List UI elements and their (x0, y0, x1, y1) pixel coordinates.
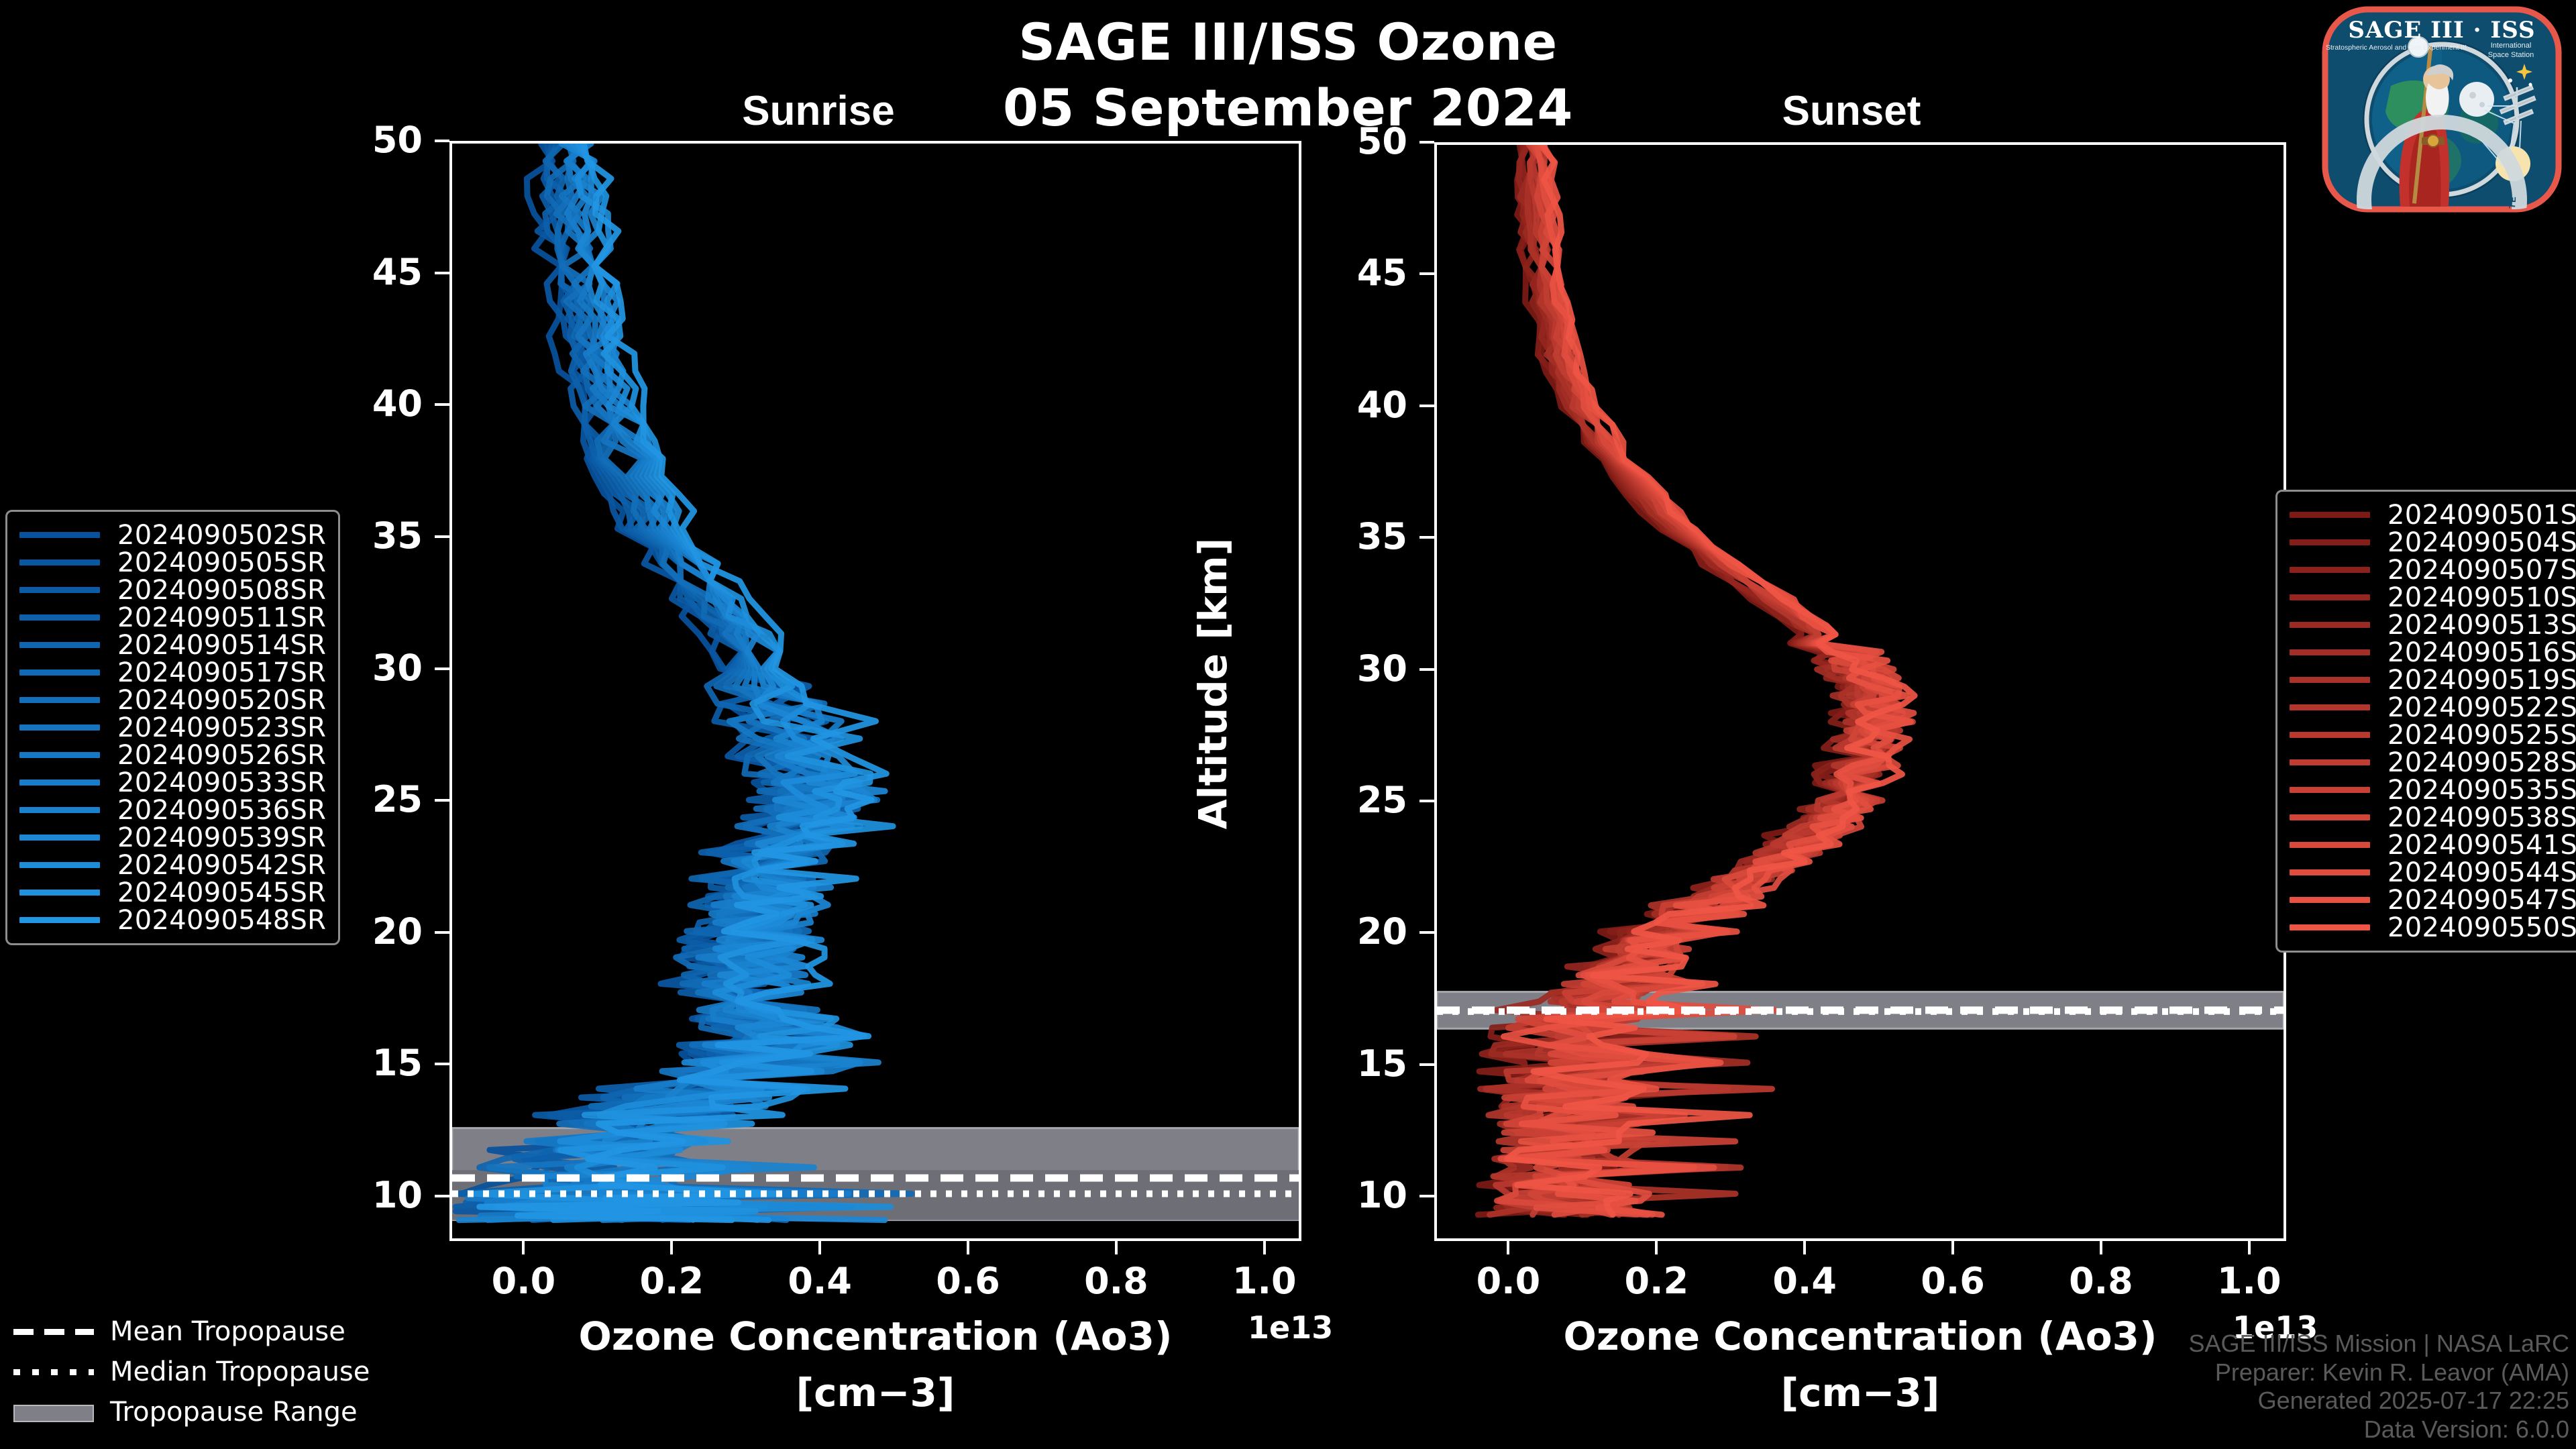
legend-item[interactable]: 2024090525SS (2290, 721, 2576, 749)
legend-item-label: 2024090538SS (2387, 802, 2576, 833)
legend-item[interactable]: 2024090528SS (2290, 749, 2576, 776)
sunset-plot-area (1434, 142, 2286, 1241)
legend-item[interactable]: 2024090516SS (2290, 639, 2576, 666)
x-axis-tick (522, 1241, 525, 1254)
sunset-series-svg (1437, 145, 2284, 1238)
x-axis-tick (1803, 1241, 1806, 1254)
legend-color-swatch (2290, 759, 2370, 765)
x-axis-tick (2100, 1241, 2102, 1254)
legend-item[interactable]: 2024090536SR (19, 796, 326, 824)
y-axis-tick (1419, 272, 1434, 275)
y-axis-tick (435, 535, 449, 538)
legend-row-tropopause-range: Tropopause Range (13, 1395, 362, 1429)
legend-item[interactable]: 2024090504SS (2290, 529, 2576, 556)
legend-item[interactable]: 2024090548SR (19, 906, 326, 934)
sunrise-x-axis-label: Ozone Concentration (Ao3) (449, 1313, 1301, 1359)
legend-color-swatch (19, 532, 100, 538)
legend-color-swatch (2290, 869, 2370, 875)
legend-item-label: 2024090504SS (2387, 527, 2576, 558)
y-axis-tick-label: 40 (1307, 387, 1407, 423)
x-axis-tick (1655, 1241, 1658, 1254)
legend-label-median-tropopause: Median Tropopause (110, 1356, 370, 1387)
y-axis-tick-label: 45 (1307, 255, 1407, 291)
legend-color-swatch (2290, 677, 2370, 683)
legend-item-label: 2024090505SR (117, 547, 326, 578)
legend-color-swatch (19, 614, 100, 621)
legend-color-swatch (19, 669, 100, 676)
y-axis-tick (435, 1063, 449, 1065)
x-axis-tick-label: 0.0 (1448, 1260, 1568, 1302)
legend-color-swatch (2290, 924, 2370, 930)
credits-preparer: Preparer: Kevin R. Leavor (AMA) (2188, 1358, 2569, 1387)
legend-item-label: 2024090536SR (117, 795, 326, 826)
legend-item[interactable]: 2024090539SR (19, 824, 326, 851)
legend-item-label: 2024090526SR (117, 740, 326, 771)
sunrise-series-svg (452, 144, 1299, 1238)
y-axis-tick-label: 15 (1307, 1046, 1407, 1082)
profile-line (459, 144, 878, 1220)
x-axis-tick-label: 1.0 (1204, 1260, 1325, 1302)
y-axis-tick-label: 50 (322, 122, 423, 158)
legend-item[interactable]: 2024090507SS (2290, 556, 2576, 584)
credits-generated: Generated 2025-07-17 22:25 (2188, 1387, 2569, 1415)
x-axis-tick-label: 0.0 (463, 1260, 584, 1302)
legend-item-label: 2024090539SR (117, 822, 326, 853)
legend-item[interactable]: 2024090544SS (2290, 859, 2576, 886)
legend-item[interactable]: 2024090538SS (2290, 804, 2576, 831)
ozone-profile-figure: { "title": { "line1": "SAGE III/ISS Ozon… (0, 0, 2576, 1449)
logo-subtitle-right-2: Space Station (2488, 51, 2534, 59)
legend-item-label: 2024090510SS (2387, 582, 2576, 613)
x-axis-tick (2248, 1241, 2251, 1254)
legend-item[interactable]: 2024090520SR (19, 686, 326, 714)
legend-row-median-tropopause: Median Tropopause (13, 1355, 362, 1389)
legend-item-label: 2024090517SR (117, 657, 326, 688)
sunset-plot-canvas (1437, 145, 2284, 1238)
y-axis-tick-label: 45 (322, 254, 423, 290)
y-axis-tick-label: 50 (1307, 123, 1407, 160)
legend-item-label: 2024090550SS (2387, 912, 2576, 943)
legend-label-mean-tropopause: Mean Tropopause (110, 1316, 345, 1347)
y-axis-tick (1419, 800, 1434, 802)
legend-color-swatch (2290, 897, 2370, 903)
legend-color-swatch (19, 862, 100, 868)
dashed-line-icon (13, 1324, 94, 1339)
legend-color-swatch (19, 890, 100, 896)
legend-item[interactable]: 2024090513SS (2290, 611, 2576, 639)
legend-item[interactable]: 2024090542SR (19, 851, 326, 879)
legend-color-swatch (19, 807, 100, 813)
legend-item-label: 2024090535SS (2387, 775, 2576, 806)
legend-item-label: 2024090520SR (117, 685, 326, 716)
sunrise-plot-canvas (452, 144, 1299, 1238)
legend-color-swatch (2290, 787, 2370, 793)
y-axis-tick-label: 35 (1307, 519, 1407, 555)
legend-item-label: 2024090514SR (117, 630, 326, 661)
logo-subtitle-left: Stratospheric Aerosol and Gas Experiment… (2326, 44, 2467, 52)
legend-color-swatch (2290, 704, 2370, 710)
legend-item[interactable]: 2024090533SR (19, 769, 326, 796)
legend-color-swatch (19, 559, 100, 566)
legend-item[interactable]: 2024090508SR (19, 576, 326, 604)
y-axis-tick-label: 10 (1307, 1177, 1407, 1214)
legend-item[interactable]: 2024090526SR (19, 741, 326, 769)
legend-color-swatch (19, 642, 100, 648)
logo-title: SAGE III · ISS (2348, 17, 2535, 44)
legend-item-label: 2024090513SS (2387, 610, 2576, 641)
x-axis-tick-label: 0.6 (908, 1260, 1028, 1302)
legend-color-swatch (19, 917, 100, 923)
legend-color-swatch (2290, 732, 2370, 738)
x-axis-tick (670, 1241, 673, 1254)
legend-color-swatch (2290, 814, 2370, 820)
y-axis-tick (435, 272, 449, 274)
legend-item-label: 2024090525SS (2387, 720, 2576, 751)
x-axis-tick (1951, 1241, 1954, 1254)
credits-mission: SAGE III/ISS Mission | NASA LaRC (2188, 1330, 2569, 1358)
legend-color-swatch (2290, 622, 2370, 628)
x-axis-tick (1263, 1241, 1266, 1254)
legend-item[interactable]: 2024090550SS (2290, 914, 2576, 941)
filled-band-icon (13, 1405, 94, 1419)
sunset-x-axis-label: Ozone Concentration (Ao3) (1434, 1313, 2286, 1359)
legend-item-label: 2024090542SR (117, 850, 326, 881)
legend-item-label: 2024090528SS (2387, 747, 2576, 778)
legend-item-label: 2024090507SS (2387, 555, 2576, 586)
legend-item[interactable]: 2024090535SS (2290, 776, 2576, 804)
x-axis-tick (967, 1241, 969, 1254)
legend-color-swatch (2290, 512, 2370, 518)
x-axis-tick (1115, 1241, 1118, 1254)
legend-item[interactable]: 2024090519SS (2290, 666, 2576, 694)
sunrise-panel-title: Sunrise (604, 87, 1033, 135)
y-axis-tick (1419, 405, 1434, 407)
y-axis-tick (1419, 141, 1434, 144)
y-axis-tick-label: 10 (322, 1177, 423, 1214)
legend-color-swatch (19, 780, 100, 786)
y-axis-tick (435, 931, 449, 934)
x-axis-tick-label: 0.4 (759, 1260, 880, 1302)
legend-item-label: 2024090523SR (117, 712, 326, 743)
sunrise-x-exponent: 1e13 (1248, 1309, 1333, 1346)
legend-item[interactable]: 2024090541SS (2290, 831, 2576, 859)
legend-item-label: 2024090547SS (2387, 885, 2576, 916)
legend-label-tropopause-range: Tropopause Range (110, 1397, 358, 1428)
legend-item[interactable]: 2024090501SS (2290, 501, 2576, 529)
legend-color-swatch (2290, 594, 2370, 600)
legend-item[interactable]: 2024090514SR (19, 631, 326, 659)
legend-color-swatch (2290, 539, 2370, 545)
y-axis-tick (1419, 668, 1434, 671)
y-axis-tick (1419, 1195, 1434, 1197)
credits-data-version: Data Version: 6.0.0 (2188, 1415, 2569, 1444)
y-axis-tick (1419, 536, 1434, 539)
tropopause-legend: Mean Tropopause Median Tropopause Tropop… (13, 1315, 362, 1436)
credits-block: SAGE III/ISS Mission | NASA LaRC Prepare… (2188, 1330, 2569, 1444)
dotted-line-icon (13, 1364, 94, 1379)
legend-color-swatch (19, 697, 100, 703)
legend-item[interactable]: 2024090510SS (2290, 584, 2576, 611)
legend-color-swatch (2290, 842, 2370, 848)
legend-color-swatch (2290, 567, 2370, 573)
legend-item-label: 2024090545SR (117, 877, 326, 908)
sunrise-legend[interactable]: 2024090502SR2024090505SR2024090508SR2024… (5, 510, 340, 945)
sunset-profile-lines (1478, 145, 1915, 1215)
x-axis-tick-label: 0.2 (611, 1260, 732, 1302)
legend-color-swatch (19, 752, 100, 758)
y-axis-tick (435, 799, 449, 802)
logo-subtitle-right-1: International (2491, 42, 2532, 50)
x-axis-tick (1507, 1241, 1509, 1254)
y-axis-tick (435, 140, 449, 142)
sunset-panel-title: Sunset (1637, 87, 2066, 135)
y-axis-tick-label: 15 (322, 1045, 423, 1081)
legend-item-label: 2024090502SR (117, 520, 326, 551)
legend-item-label: 2024090533SR (117, 767, 326, 798)
sunset-tropopause-lines (1437, 1010, 2284, 1012)
legend-color-swatch (19, 587, 100, 593)
page-title-line1: SAGE III/ISS Ozone (0, 12, 2576, 72)
legend-item-label: 2024090501SS (2387, 500, 2576, 531)
legend-color-swatch (19, 724, 100, 731)
x-axis-tick-label: 0.4 (1744, 1260, 1865, 1302)
x-axis-tick-label: 0.2 (1596, 1260, 1717, 1302)
legend-item[interactable]: 2024090511SR (19, 604, 326, 631)
y-axis-tick-label: 25 (1307, 782, 1407, 818)
legend-item[interactable]: 2024090517SR (19, 659, 326, 686)
x-axis-tick-label: 0.8 (2041, 1260, 2161, 1302)
legend-item[interactable]: 2024090523SR (19, 714, 326, 741)
legend-color-swatch (19, 835, 100, 841)
y-axis-tick-label: 30 (1307, 651, 1407, 687)
legend-row-mean-tropopause: Mean Tropopause (13, 1315, 362, 1348)
y-axis-tick (435, 403, 449, 406)
sunset-y-axis-label: Altitude [km] (1190, 516, 1236, 851)
legend-item-label: 2024090541SS (2387, 830, 2576, 861)
legend-item[interactable]: 2024090505SR (19, 549, 326, 576)
legend-item-label: 2024090519SS (2387, 665, 2576, 696)
legend-item[interactable]: 2024090502SR (19, 521, 326, 549)
x-axis-tick-label: 1.0 (2189, 1260, 2310, 1302)
legend-item[interactable]: 2024090522SS (2290, 694, 2576, 721)
legend-item[interactable]: 2024090545SR (19, 879, 326, 906)
y-axis-tick-label: 20 (1307, 914, 1407, 950)
y-axis-tick (435, 1195, 449, 1197)
y-axis-tick-label: 40 (322, 386, 423, 422)
x-axis-tick (818, 1241, 821, 1254)
legend-item-label: 2024090548SR (117, 905, 326, 936)
y-axis-tick (435, 667, 449, 670)
sunset-x-axis-units: [cm−3] (1434, 1370, 2286, 1415)
x-axis-tick-label: 0.8 (1056, 1260, 1177, 1302)
y-axis-tick (1419, 931, 1434, 934)
sunset-legend[interactable]: 2024090501SS2024090504SS2024090507SS2024… (2275, 490, 2576, 953)
sunrise-plot-area (449, 141, 1301, 1241)
legend-item-label: 2024090511SR (117, 602, 326, 633)
legend-item[interactable]: 2024090547SS (2290, 886, 2576, 914)
sunrise-profile-lines (456, 144, 912, 1220)
legend-item-label: 2024090544SS (2387, 857, 2576, 888)
legend-item-label: 2024090522SS (2387, 692, 2576, 723)
sage-iii-iss-mission-patch-logo: BALL · NASA LANGLEY RESEARCH CENTER · TA… (2321, 5, 2563, 213)
y-axis-tick (1419, 1063, 1434, 1066)
legend-color-swatch (2290, 649, 2370, 655)
x-axis-tick-label: 0.6 (1892, 1260, 2013, 1302)
legend-item-label: 2024090508SR (117, 575, 326, 606)
legend-item-label: 2024090516SS (2387, 637, 2576, 668)
sunrise-x-axis-units: [cm−3] (449, 1370, 1301, 1415)
